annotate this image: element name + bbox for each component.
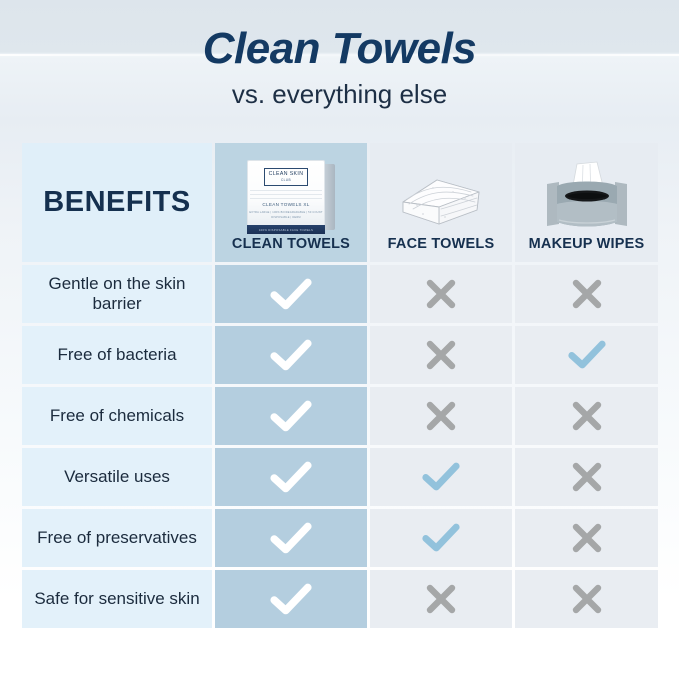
- cell-clean-towels-check: [215, 387, 367, 445]
- page-subtitle: vs. everything else: [0, 80, 679, 109]
- cell-face-towels-cross: [370, 387, 512, 445]
- cross-icon: [570, 460, 604, 494]
- table-body: Gentle on the skin barrierFree of bacter…: [22, 265, 657, 628]
- table-row: Versatile uses: [22, 448, 657, 506]
- cell-clean-towels-check: [215, 265, 367, 323]
- cell-makeup-wipes-cross: [515, 509, 658, 567]
- cell-clean-towels-check: [215, 448, 367, 506]
- benefits-header-cell: BENEFITS: [22, 143, 212, 262]
- cell-face-towels-check: [370, 509, 512, 567]
- cell-face-towels-check: [370, 448, 512, 506]
- box-brand-sub-text: CLUB: [281, 179, 291, 182]
- cross-icon: [424, 399, 458, 433]
- benefit-label: Free of chemicals: [22, 387, 212, 445]
- box-brand-text: CLEAN SKIN: [269, 172, 304, 177]
- product-box-clean-towels-icon: CLEAN SKIN CLUB CLEAN TOWELS XL EXTRA LA…: [247, 150, 335, 234]
- box-band-text: 100% DISPOSABLE FACE TOWELS: [247, 228, 325, 232]
- comparison-infographic: Clean Towels vs. everything else BENEFIT…: [0, 0, 679, 679]
- cell-clean-towels-check: [215, 509, 367, 567]
- header: Clean Towels vs. everything else: [0, 26, 679, 109]
- check-icon: [422, 523, 460, 553]
- cell-makeup-wipes-check: [515, 326, 658, 384]
- benefit-label: Free of preservatives: [22, 509, 212, 567]
- check-icon: [270, 278, 312, 311]
- column-header-face-towels: FACE TOWELS: [370, 143, 512, 262]
- cross-icon: [424, 582, 458, 616]
- column-header-clean-towels: CLEAN SKIN CLUB CLEAN TOWELS XL EXTRA LA…: [215, 143, 367, 262]
- cross-icon: [570, 399, 604, 433]
- benefit-label: Free of bacteria: [22, 326, 212, 384]
- benefits-header-label: BENEFITS: [43, 186, 190, 219]
- cross-icon: [570, 277, 604, 311]
- check-icon: [270, 461, 312, 494]
- column-label-face-towels: FACE TOWELS: [388, 236, 495, 252]
- comparison-table: BENEFITS CLEAN SKIN CLUB CLEAN TOW: [22, 143, 657, 632]
- box-fine-print-1: EXTRA LARGE | 100% BIODEGRADABLE | 50 CO…: [247, 211, 325, 214]
- cell-makeup-wipes-cross: [515, 448, 658, 506]
- cell-makeup-wipes-cross: [515, 387, 658, 445]
- table-header-row: BENEFITS CLEAN SKIN CLUB CLEAN TOW: [22, 143, 657, 262]
- cross-icon: [424, 277, 458, 311]
- column-label-clean-towels: CLEAN TOWELS: [232, 236, 350, 252]
- table-row: Safe for sensitive skin: [22, 570, 657, 628]
- check-icon: [270, 583, 312, 616]
- benefit-label: Versatile uses: [22, 448, 212, 506]
- cross-icon: [424, 338, 458, 372]
- check-icon: [270, 339, 312, 372]
- table-row: Free of chemicals: [22, 387, 657, 445]
- folded-towel-icon: [393, 150, 489, 234]
- check-icon: [568, 340, 606, 370]
- cell-makeup-wipes-cross: [515, 570, 658, 628]
- wipes-package-icon: [541, 150, 633, 234]
- column-header-makeup-wipes: MAKEUP WIPES: [515, 143, 658, 262]
- benefit-label: Gentle on the skin barrier: [22, 265, 212, 323]
- cross-icon: [570, 521, 604, 555]
- cross-icon: [570, 582, 604, 616]
- cell-face-towels-cross: [370, 570, 512, 628]
- table-row: Gentle on the skin barrier: [22, 265, 657, 323]
- check-icon: [270, 400, 312, 433]
- cell-makeup-wipes-cross: [515, 265, 658, 323]
- check-icon: [422, 462, 460, 492]
- page-title: Clean Towels: [0, 26, 679, 72]
- table-row: Free of preservatives: [22, 509, 657, 567]
- cell-face-towels-cross: [370, 265, 512, 323]
- benefit-label: Safe for sensitive skin: [22, 570, 212, 628]
- table-row: Free of bacteria: [22, 326, 657, 384]
- check-icon: [270, 522, 312, 555]
- column-label-makeup-wipes: MAKEUP WIPES: [529, 236, 645, 252]
- box-fine-print-2: DISPOSABLE | DERM: [247, 216, 325, 219]
- cell-clean-towels-check: [215, 326, 367, 384]
- cell-face-towels-cross: [370, 326, 512, 384]
- cell-clean-towels-check: [215, 570, 367, 628]
- box-product-name: CLEAN TOWELS XL: [247, 202, 325, 207]
